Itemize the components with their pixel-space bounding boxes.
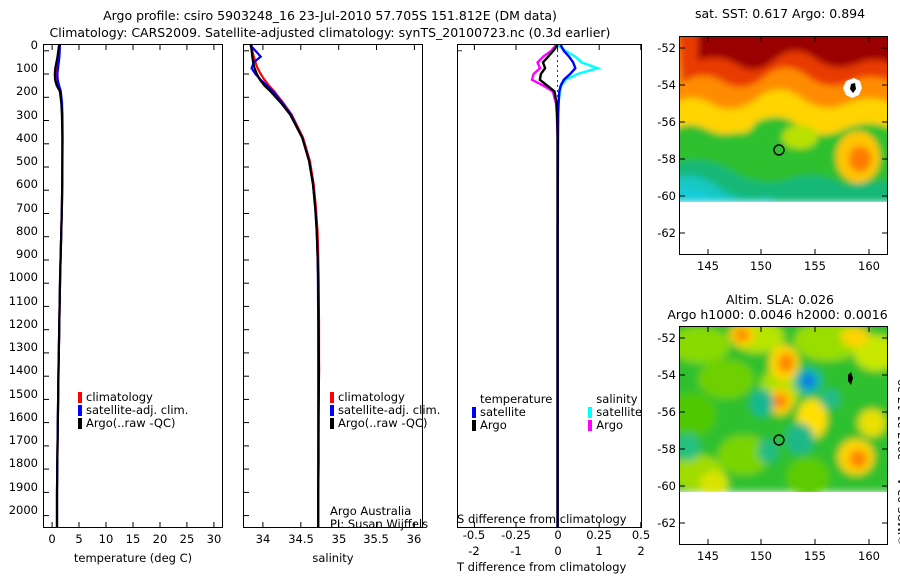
legend-item-sal-argo: Argo — [588, 419, 642, 432]
copyright-text: ©IMOS 02-Aug-2017 21:17:39 — [896, 379, 900, 546]
temperature-plot-area — [44, 45, 222, 527]
difference-plot-area — [458, 45, 641, 527]
swatch-argo-icon — [78, 418, 82, 429]
page-title-line2: Climatology: CARS2009. Satellite-adjuste… — [0, 25, 660, 40]
temperature-axis-label: temperature (deg C) — [43, 551, 223, 565]
legend-label: Argo — [596, 419, 623, 432]
salinity-legend: climatology satellite-adj. clim. Argo(..… — [330, 391, 440, 430]
credit-line2: PI: Susan Wijffels — [330, 518, 428, 531]
legend-item-argo: Argo(..raw -QC) — [78, 417, 188, 430]
swatch-sal-satellite-icon — [588, 407, 592, 418]
salinity-plot-area — [244, 45, 422, 527]
sst-map-title: sat. SST: 0.617 Argo: 0.894 — [665, 6, 895, 21]
difference-legend: temperature satellite Argo salinity sate… — [472, 393, 642, 432]
legend-item-temp-argo: Argo — [472, 419, 552, 432]
legend-item-argo: Argo(..raw -QC) — [330, 417, 440, 430]
sla-map-title-line1: Altim. SLA: 0.026 — [665, 292, 895, 307]
page-title-line1: Argo profile: csiro 5903248_16 23-Jul-20… — [0, 8, 660, 23]
legend-group-temperature: temperature satellite Argo — [472, 393, 552, 432]
s-difference-axis-label: S difference from climatology — [457, 512, 642, 526]
temperature-legend: climatology satellite-adj. clim. Argo(..… — [78, 391, 188, 430]
swatch-argo-icon — [330, 418, 334, 429]
t-difference-axis-label: T difference from climatology — [457, 560, 647, 574]
swatch-temp-satellite-icon — [472, 407, 476, 418]
sst-map-field — [680, 37, 887, 254]
swatch-climatology-icon — [78, 392, 82, 403]
salinity-axis-label: salinity — [243, 551, 423, 565]
legend-label: Argo — [480, 419, 507, 432]
swatch-satellite-icon — [330, 405, 334, 416]
legend-label: Argo(..raw -QC) — [86, 417, 176, 430]
sla-map-field — [680, 327, 887, 544]
legend-label: Argo(..raw -QC) — [338, 417, 428, 430]
sla-map-title-line2: Argo h1000: 0.0046 h2000: 0.0016 — [655, 307, 900, 322]
swatch-sal-argo-icon — [588, 420, 592, 431]
swatch-climatology-icon — [330, 392, 334, 403]
swatch-satellite-icon — [78, 405, 82, 416]
argo-australia-credit: Argo Australia PI: Susan Wijffels — [330, 505, 428, 531]
legend-group-salinity: salinity satellite Argo — [588, 393, 642, 432]
swatch-temp-argo-icon — [472, 420, 476, 431]
